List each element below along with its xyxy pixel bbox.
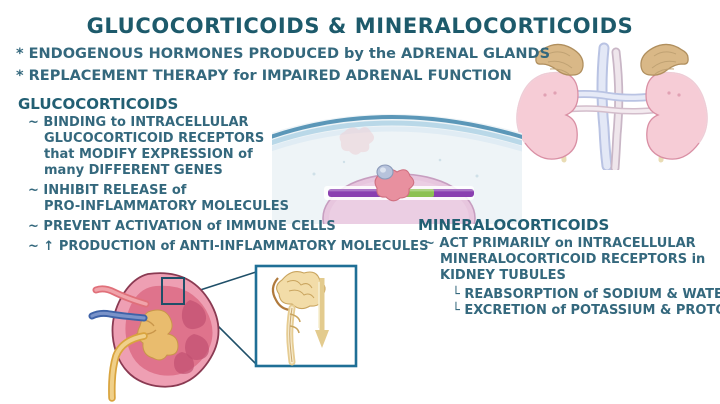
cell-nucleus-dna-illustration [272,96,522,224]
infographic-canvas: GLUCOCORTICOIDS & MINERALOCORTICOIDS * E… [0,0,720,404]
page-title: GLUCOCORTICOIDS & MINERALOCORTICOIDS [0,14,720,38]
glucocorticoids-item-8: ~ ↑ PRODUCTION of ANTI-INFLAMMATORY MOLE… [28,239,428,254]
mineralocorticoids-item-3: KIDNEY TUBULES [440,268,566,283]
mineralocorticoids-heading: MINERALOCORTICOIDS [418,216,609,234]
mineralocorticoids-item-1: ~ ACT PRIMARILY on INTRACELLULAR [424,236,696,251]
intro-bullet-2: * REPLACEMENT THERAPY for IMPAIRED ADREN… [16,68,512,84]
glucocorticoids-item-2: GLUCOCORTICOID RECEPTORS [44,131,264,146]
glucocorticoids-item-4: many DIFFERENT GENES [44,163,223,178]
mineralocorticoids-item-2: MINERALOCORTICOID RECEPTORS in [440,252,705,267]
glucocorticoids-item-3: that MODIFY EXPRESSION of [44,147,253,162]
glucocorticoids-item-7: ~ PREVENT ACTIVATION of IMMUNE CELLS [28,219,336,234]
mineralocorticoids-subitem-1: └ REABSORPTION of SODIUM & WATER [452,287,720,302]
intro-bullet-1: * ENDOGENOUS HORMONES PRODUCED by the AD… [16,46,550,62]
kidney-nephron-illustration [86,256,376,402]
glucocorticoids-heading: GLUCOCORTICOIDS [18,95,178,113]
glucocorticoids-item-1: ~ BINDING to INTRACELLULAR [28,115,249,130]
glucocorticoids-item-6: PRO-INFLAMMATORY MOLECULES [44,199,289,214]
glucocorticoids-item-5: ~ INHIBIT RELEASE of [28,183,186,198]
mineralocorticoids-subitem-2: └ EXCRETION of POTASSIUM & PROTONS [452,303,720,318]
